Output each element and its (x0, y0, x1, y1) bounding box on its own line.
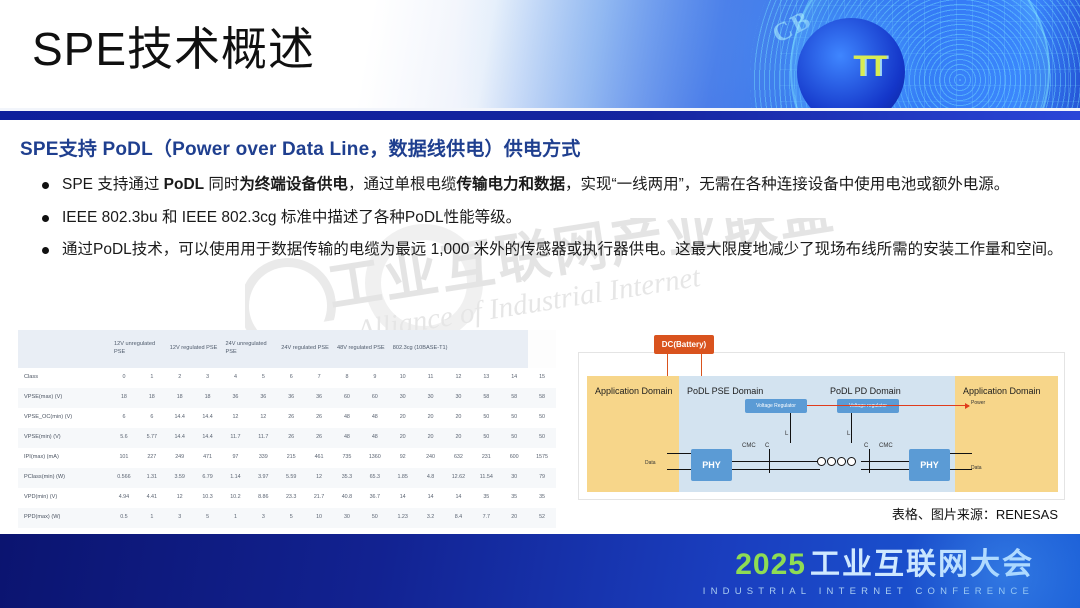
table-cell: 14.4 (166, 408, 194, 428)
table-cell: 52 (528, 508, 556, 528)
wire-data-in-left (667, 453, 691, 454)
table-cell: 6 (110, 408, 138, 428)
domain-podl-pse-label: PoDL PSE Domain (687, 387, 763, 396)
table-cell: 20 (417, 428, 445, 448)
voltage-regulator-left-box: Voltage Regulator (745, 399, 807, 413)
table-cell: 10.3 (194, 488, 222, 508)
table-cell: 5.59 (277, 468, 305, 488)
table-cell: 4.94 (110, 488, 138, 508)
page-title: SPE技术概述 (32, 24, 315, 75)
table-cell: 36 (222, 388, 250, 408)
table-row: VPD(min) (V)4.944.411210.310.28.8623.321… (18, 488, 556, 508)
table-cell: 1.14 (222, 468, 250, 488)
table-cell: 11.54 (472, 468, 500, 488)
table-cell: 0.566 (110, 468, 138, 488)
table-cell: 21.7 (305, 488, 333, 508)
table-cell: 6 (138, 408, 166, 428)
dc-battery-box: DC(Battery) (654, 335, 714, 354)
table-cell: 14 (389, 488, 417, 508)
table-cell: 1.85 (389, 468, 417, 488)
table-cell: 50 (472, 408, 500, 428)
table-cell: 5 (277, 508, 305, 528)
tt-logo-icon: TT (853, 52, 884, 82)
table-cell: 0.5 (110, 508, 138, 528)
table-cell: 15 (528, 368, 556, 388)
table-cell: 5.6 (110, 428, 138, 448)
data-left-label: Data (645, 461, 656, 466)
wire-data-out-right (950, 453, 972, 454)
table-cell: 1 (138, 368, 166, 388)
table-cell: 8.86 (249, 488, 277, 508)
table-cell: 14 (417, 488, 445, 508)
table-cell: 227 (138, 448, 166, 468)
wire-bus-left (732, 461, 820, 462)
table-cell: 12 (166, 488, 194, 508)
phy-left-box: PHY (691, 449, 732, 481)
row-label-cell: Class (18, 368, 110, 388)
table-cell: 3.97 (249, 468, 277, 488)
table-cell: 11.7 (249, 428, 277, 448)
table-cell: 30 (445, 388, 473, 408)
podl-spec-table: 12V unregulated PSE 12V regulated PSE 24… (18, 330, 556, 528)
table-cell: 1 (222, 508, 250, 528)
table-cell: 231 (472, 448, 500, 468)
row-label-cell: VPSE(max) (V) (18, 388, 110, 408)
spec-table: 12V unregulated PSE 12V regulated PSE 24… (18, 330, 556, 528)
table-cell: 48 (333, 428, 361, 448)
domain-application-left: Application Domain (587, 376, 679, 492)
table-cell: 8 (333, 368, 361, 388)
wire-data-in-right (950, 469, 972, 470)
cap-right-label: C (864, 443, 868, 449)
table-cell: 20 (389, 408, 417, 428)
table-cell: 11 (417, 368, 445, 388)
table-cell: 30 (500, 468, 528, 488)
table-cell: 1.31 (138, 468, 166, 488)
table-cell: 26 (277, 428, 305, 448)
table-row: PClass(min) (W)0.5661.313.596.791.143.97… (18, 468, 556, 488)
table-cell: 632 (445, 448, 473, 468)
table-cell: 30 (417, 388, 445, 408)
table-cell: 12 (222, 408, 250, 428)
table-cell: 10 (305, 508, 333, 528)
wire-bus-left-2 (732, 469, 820, 470)
table-cell: 20 (445, 428, 473, 448)
conference-logo: 2025工业互联网大会 INDUSTRIAL INTERNET CONFEREN… (703, 550, 1034, 597)
table-cell: 18 (110, 388, 138, 408)
table-cell: 65.3 (361, 468, 389, 488)
table-cell: 12 (249, 408, 277, 428)
table-cell: 1575 (528, 448, 556, 468)
table-cell: 735 (333, 448, 361, 468)
col-group-24v-unreg: 24V unregulated PSE (222, 330, 278, 368)
list-item: SPE 支持通过 PoDL 同时为终端设备供电，通过单根电缆传输电力和数据，实现… (30, 172, 1065, 199)
table-row: VPSE(min) (V)5.65.7714.414.411.711.72626… (18, 428, 556, 448)
table-cell: 50 (472, 428, 500, 448)
table-cell: 3.2 (417, 508, 445, 528)
table-cell: 18 (194, 388, 222, 408)
table-cell: 58 (500, 388, 528, 408)
table-cell: 18 (138, 388, 166, 408)
table-cell: 50 (528, 428, 556, 448)
table-cell: 13 (472, 368, 500, 388)
table-cell: 35 (500, 488, 528, 508)
table-cell: 30 (333, 508, 361, 528)
list-item: IEEE 802.3bu 和 IEEE 802.3cg 标准中描述了各种PoDL… (30, 205, 1065, 232)
table-cell: 5.77 (138, 428, 166, 448)
domain-application-left-label: Application Domain (595, 387, 673, 396)
table-cell: 92 (389, 448, 417, 468)
list-item: 通过PoDL技术，可以使用用于数据传输的电缆为最远 1,000 米外的传感器或执… (30, 237, 1065, 264)
podl-architecture-diagram: DC(Battery) Application Domain PoDL PSE … (578, 352, 1065, 500)
source-note: 表格、图片来源：RENESAS (892, 508, 1058, 521)
table-cell: 6 (277, 368, 305, 388)
dc-lead-right (701, 354, 702, 376)
domain-application-right-label: Application Domain (963, 387, 1041, 396)
table-body: Class0123456789101112131415VPSE(max) (V)… (18, 368, 556, 528)
table-cell: 48 (361, 428, 389, 448)
header-orb-decor (797, 18, 905, 118)
table-row: IPI(max) (mA)101227249471973392154617351… (18, 448, 556, 468)
table-cell: 240 (417, 448, 445, 468)
table-cell: 11.7 (222, 428, 250, 448)
cmc-right-label: CMC (879, 443, 893, 449)
table-cell: 35.3 (333, 468, 361, 488)
col-group-12v-reg: 12V regulated PSE (166, 330, 222, 368)
table-cell: 461 (305, 448, 333, 468)
bullet-list: SPE 支持通过 PoDL 同时为终端设备供电，通过单根电缆传输电力和数据，实现… (30, 172, 1065, 270)
slide: CB TT SPE技术概述 SPE支持 PoDL（Power over Data… (0, 0, 1080, 608)
wire-cap-right (869, 449, 870, 473)
cable-coil-3-icon (837, 457, 846, 466)
table-cell: 3 (194, 368, 222, 388)
row-label-cell: IPI(max) (mA) (18, 448, 110, 468)
table-cell: 215 (277, 448, 305, 468)
slide-footer-banner: 2025工业互联网大会 INDUSTRIAL INTERNET CONFEREN… (0, 534, 1080, 608)
wire-reg-left-down (790, 413, 791, 443)
table-cell: 101 (110, 448, 138, 468)
table-cell: 14 (445, 488, 473, 508)
conference-year: 2025 (735, 548, 806, 581)
table-cell: 4.41 (138, 488, 166, 508)
table-row: VPSE_OC(min) (V)6614.414.412122626484820… (18, 408, 556, 428)
table-cell: 12 (445, 368, 473, 388)
row-label-cell: PPD(max) (W) (18, 508, 110, 528)
domain-podl-pd-label: PoDL PD Domain (830, 387, 901, 396)
conference-name-en: INDUSTRIAL INTERNET CONFERENCE (703, 587, 1034, 597)
row-label-cell: PClass(min) (W) (18, 468, 110, 488)
cable-coil-1-icon (817, 457, 826, 466)
table-cell: 14.4 (166, 428, 194, 448)
table-cell: 60 (361, 388, 389, 408)
table-row: PPD(max) (W)0.51351351030501.233.28.47.7… (18, 508, 556, 528)
table-cell: 0 (110, 368, 138, 388)
table-cell: 18 (166, 388, 194, 408)
table-cell: 48 (361, 408, 389, 428)
voltage-regulator-right-box: Voltage regulator (837, 399, 899, 413)
table-cell: 26 (305, 428, 333, 448)
table-head: 12V unregulated PSE 12V regulated PSE 24… (18, 330, 556, 368)
table-cell: 339 (249, 448, 277, 468)
row-label-cell: VPSE_OC(min) (V) (18, 408, 110, 428)
phy-right-box: PHY (909, 449, 950, 481)
inductor-left-label: L (785, 431, 788, 437)
table-cell: 14.4 (194, 428, 222, 448)
table-cell: 14.4 (194, 408, 222, 428)
wire-cap-left (769, 449, 770, 473)
col-group-48v-reg: 48V regulated PSE (333, 330, 389, 368)
table-cell: 7.7 (472, 508, 500, 528)
table-cell: 48 (333, 408, 361, 428)
wire-reg-right-down (851, 413, 852, 443)
table-cell: 12.62 (445, 468, 473, 488)
col-group-8023cg: 802.3cg (10BASE-T1) (389, 330, 528, 368)
cmc-left-label: CMC (742, 443, 756, 449)
table-cell: 10.2 (222, 488, 250, 508)
table-cell: 4 (222, 368, 250, 388)
table-cell: 471 (194, 448, 222, 468)
table-cell: 36.7 (361, 488, 389, 508)
table-cell: 20 (389, 428, 417, 448)
table-cell: 58 (472, 388, 500, 408)
table-cell: 3.59 (166, 468, 194, 488)
col-group-blank (18, 330, 110, 368)
table-cell: 50 (528, 408, 556, 428)
dc-lead-left (667, 354, 668, 376)
table-cell: 97 (222, 448, 250, 468)
table-cell: 23.3 (277, 488, 305, 508)
section-subtitle: SPE支持 PoDL（Power over Data Line，数据线供电）供电… (20, 138, 581, 163)
table-cell: 60 (333, 388, 361, 408)
table-cell: 1.23 (389, 508, 417, 528)
inductor-right-label: L (847, 431, 850, 437)
row-label-cell: VPSE(min) (V) (18, 428, 110, 448)
cable-coil-4-icon (847, 457, 856, 466)
table-cell: 1360 (361, 448, 389, 468)
domain-application-right: Application Domain (955, 376, 1058, 492)
table-cell: 26 (305, 408, 333, 428)
wire-data-out-left (667, 469, 691, 470)
table-cell: 30 (389, 388, 417, 408)
table-cell: 3 (166, 508, 194, 528)
table-cell: 6.79 (194, 468, 222, 488)
table-cell: 12 (305, 468, 333, 488)
table-cell: 79 (528, 468, 556, 488)
table-cell: 40.8 (333, 488, 361, 508)
conference-name-cn: 工业互联网大会 (810, 548, 1034, 581)
table-cell: 36 (249, 388, 277, 408)
table-cell: 8.4 (445, 508, 473, 528)
table-cell: 9 (361, 368, 389, 388)
table-cell: 14 (500, 368, 528, 388)
table-cell: 26 (277, 408, 305, 428)
table-cell: 58 (528, 388, 556, 408)
table-cell: 35 (528, 488, 556, 508)
table-cell: 35 (472, 488, 500, 508)
table-cell: 249 (166, 448, 194, 468)
table-cell: 7 (305, 368, 333, 388)
table-cell: 2 (166, 368, 194, 388)
table-cell: 50 (500, 408, 528, 428)
table-cell: 4.8 (417, 468, 445, 488)
cable-coil-2-icon (827, 457, 836, 466)
table-cell: 10 (389, 368, 417, 388)
table-cell: 3 (249, 508, 277, 528)
table-cell: 20 (417, 408, 445, 428)
col-group-12v-unreg: 12V unregulated PSE (110, 330, 166, 368)
col-group-24v-reg: 24V regulated PSE (277, 330, 333, 368)
table-row: Class0123456789101112131415 (18, 368, 556, 388)
table-cell: 20 (500, 508, 528, 528)
table-cell: 600 (500, 448, 528, 468)
table-cell: 36 (305, 388, 333, 408)
table-row: VPSE(max) (V)181818183636363660603030305… (18, 388, 556, 408)
row-label-cell: VPD(min) (V) (18, 488, 110, 508)
table-cell: 1 (138, 508, 166, 528)
table-cell: 36 (277, 388, 305, 408)
power-label: Power (971, 401, 985, 406)
header-divider-blue (0, 111, 1080, 120)
power-arrow-icon (807, 405, 969, 406)
data-right-label: Data (971, 466, 982, 471)
table-cell: 5 (249, 368, 277, 388)
table-cell: 5 (194, 508, 222, 528)
table-cell: 50 (361, 508, 389, 528)
table-cell: 50 (500, 428, 528, 448)
table-header-row: 12V unregulated PSE 12V regulated PSE 24… (18, 330, 556, 368)
table-cell: 20 (445, 408, 473, 428)
